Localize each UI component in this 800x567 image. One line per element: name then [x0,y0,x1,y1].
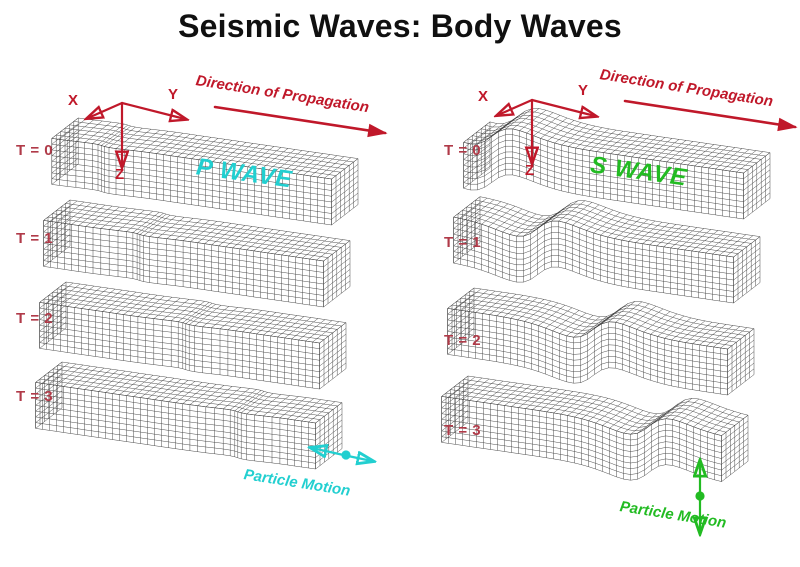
p-time-label-3: T = 3 [16,388,53,405]
p-z-axis-label: Z [115,166,124,183]
p-time-label-2: T = 2 [16,310,53,327]
p-y-axis-arrow [122,103,185,119]
p-x-axis-arrow [88,103,122,118]
p-time-label-1: T = 1 [16,230,53,247]
p-particle-motion-arrow-right [348,456,372,461]
s-time-label-0: T = 0 [444,142,481,159]
s-particle-motion-dot [695,491,704,500]
p-particle-motion-dot [341,450,350,459]
s-x-axis-label: X [478,88,488,105]
p-y-axis-label: Y [168,86,178,103]
s-wave-block-t3 [442,376,748,482]
diagram-stage: Seismic Waves: Body Waves T = 0 T = 1 T … [0,0,800,567]
s-time-label-1: T = 1 [444,234,481,251]
s-time-label-2: T = 2 [444,332,481,349]
s-z-axis-label: Z [525,162,534,179]
s-time-label-3: T = 3 [444,422,481,439]
p-time-label-0: T = 0 [16,142,53,159]
s-wave-block-t2 [448,288,754,395]
p-x-axis-label: X [68,92,78,109]
s-y-axis-label: Y [578,82,588,99]
